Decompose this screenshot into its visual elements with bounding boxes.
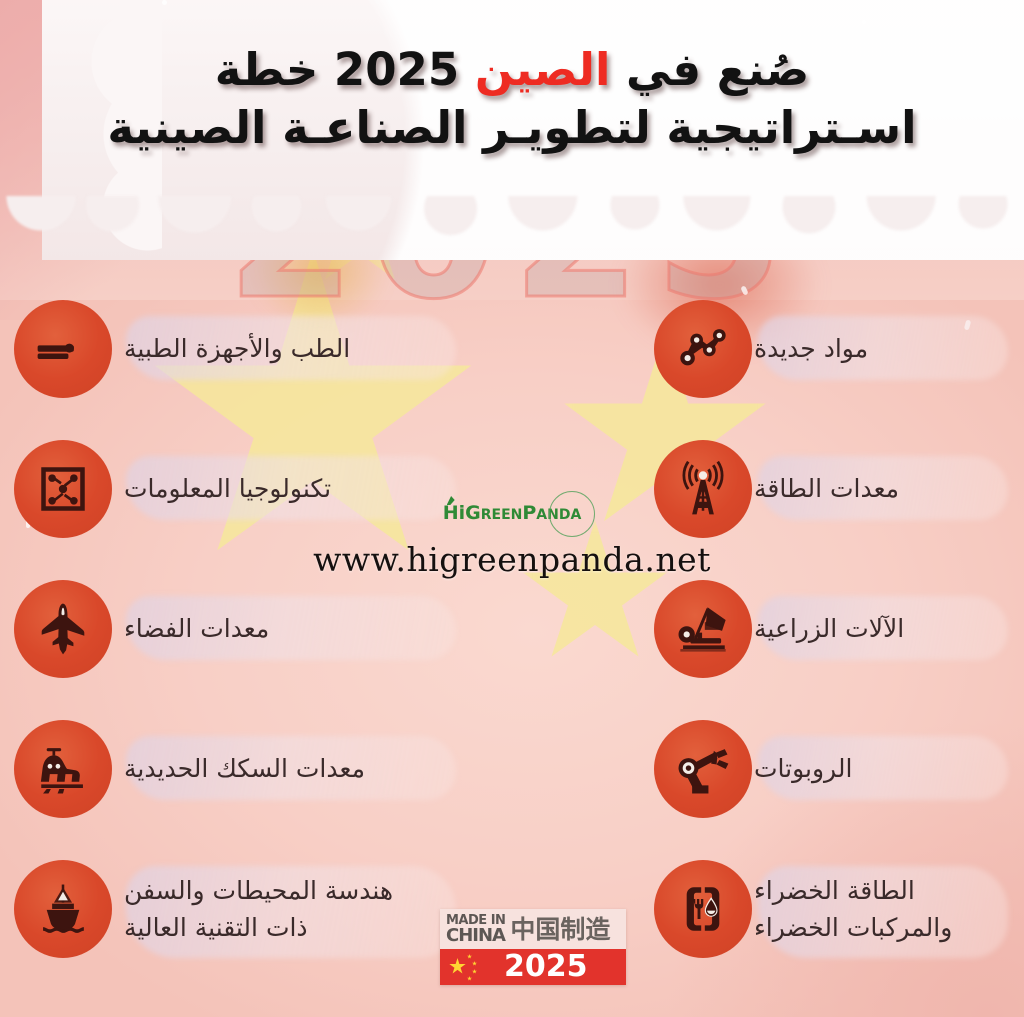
logo-circle (549, 491, 595, 537)
list-item[interactable]: الروبوتات (654, 718, 1010, 858)
green-energy-icon (674, 880, 732, 938)
icon-bubble[interactable] (654, 300, 752, 398)
icon-bubble[interactable] (14, 720, 112, 818)
label-line: معدات السكك الحديدية (124, 750, 365, 788)
label-line: الآلات الزراعية (754, 610, 904, 648)
flag-star-b (472, 961, 477, 966)
train-icon (34, 740, 92, 798)
list-item-label: معدات الفضاء (124, 578, 476, 680)
list-item-label: الطب والأجهزة الطبية (124, 298, 476, 400)
badge-china: CHINA (446, 927, 505, 945)
badge-year: 2025 (502, 952, 588, 982)
label-line: معدات الفضاء (124, 610, 269, 648)
website-url[interactable]: www.higreenpanda.net (0, 540, 1024, 579)
list-item-label: الطاقة الخضراء والمركبات الخضراء (754, 858, 1012, 960)
label-line: هندسة المحيطات والسفن (124, 872, 393, 910)
brand-block: HiGREENPANDA www.higreenpanda.net (0, 500, 1024, 579)
harvester-icon (674, 600, 732, 658)
badge-made-in-china: MADE IN CHINA (446, 914, 505, 945)
badge-bottom-row: 2025 (440, 949, 626, 985)
logo-green-initial: G (465, 502, 481, 524)
title-line-1-after: 2025 خطة (215, 43, 475, 96)
fighter-jet-icon (34, 600, 92, 658)
flag-star-c (472, 969, 477, 974)
label-line: مواد جديدة (754, 330, 868, 368)
list-item[interactable]: مواد جديدة (654, 298, 1010, 438)
poster-title: صُنع في الصين 2025 خطة اسـتراتيجية لتطوي… (0, 44, 1024, 154)
list-item[interactable]: هندسة المحيطات والسفن ذات التقنية العالي… (14, 858, 484, 998)
list-item[interactable]: معدات السكك الحديدية (14, 718, 484, 858)
icon-bubble[interactable] (654, 860, 752, 958)
label-line: الطب والأجهزة الطبية (124, 330, 350, 368)
mri-scanner-icon (34, 320, 92, 378)
ship-icon (34, 880, 92, 938)
icon-bubble[interactable] (654, 720, 752, 818)
flag-star-d (467, 976, 472, 981)
molecule-icon (674, 320, 732, 378)
list-item-label: معدات السكك الحديدية (124, 718, 476, 820)
list-item[interactable]: معدات الفضاء (14, 578, 484, 718)
right-column: مواد جديدة معدات الطاقة (654, 298, 1010, 998)
logo-green-rest: REEN (481, 507, 523, 523)
higreenpanda-logo[interactable]: HiGREENPANDA (433, 500, 592, 526)
label-line: الروبوتات (754, 750, 852, 788)
badge-chinese-text: 中国制造 (510, 917, 610, 942)
flag-star-a (467, 954, 472, 959)
infographic-poster: 2025 صُنع في الصين 2025 خطة اسـتراتيجية … (0, 0, 1024, 1017)
left-column: الطب والأجهزة الطبية (14, 298, 484, 998)
logo-hi: Hi (443, 502, 465, 524)
icon-bubble[interactable] (14, 300, 112, 398)
china-flag-icon (440, 949, 502, 985)
list-item-label: الآلات الزراعية (754, 578, 1012, 680)
list-item-label: الروبوتات (754, 718, 1012, 820)
icon-bubble[interactable] (14, 580, 112, 678)
icon-bubble[interactable] (14, 860, 112, 958)
title-line-1: صُنع في الصين 2025 خطة (0, 44, 1024, 96)
list-item[interactable]: الآلات الزراعية (654, 578, 1010, 718)
badge-top-row: MADE IN CHINA 中国制造 (440, 909, 626, 949)
list-item[interactable]: الطب والأجهزة الطبية (14, 298, 484, 438)
logo-panda-initial: P (522, 502, 536, 524)
torn-paper-edge (0, 196, 1024, 286)
list-item-label: هندسة المحيطات والسفن ذات التقنية العالي… (124, 858, 476, 960)
made-in-china-2025-badge: MADE IN CHINA 中国制造 2025 (440, 909, 626, 985)
title-line-1-before: صُنع في (610, 43, 809, 96)
list-item[interactable]: الطاقة الخضراء والمركبات الخضراء (654, 858, 1010, 998)
list-item-label: مواد جديدة (754, 298, 1012, 400)
flag-star-main (449, 958, 466, 975)
title-highlight-china: الصين (475, 43, 611, 96)
label-line: الطاقة الخضراء (754, 872, 915, 910)
label-line: ذات التقنية العالية (124, 909, 308, 947)
icon-bubble[interactable] (654, 580, 752, 678)
robot-arm-icon (674, 740, 732, 798)
label-line: والمركبات الخضراء (754, 909, 952, 947)
title-line-2: اسـتراتيجية لتطويـر الصناعـة الصينية (0, 102, 1024, 154)
